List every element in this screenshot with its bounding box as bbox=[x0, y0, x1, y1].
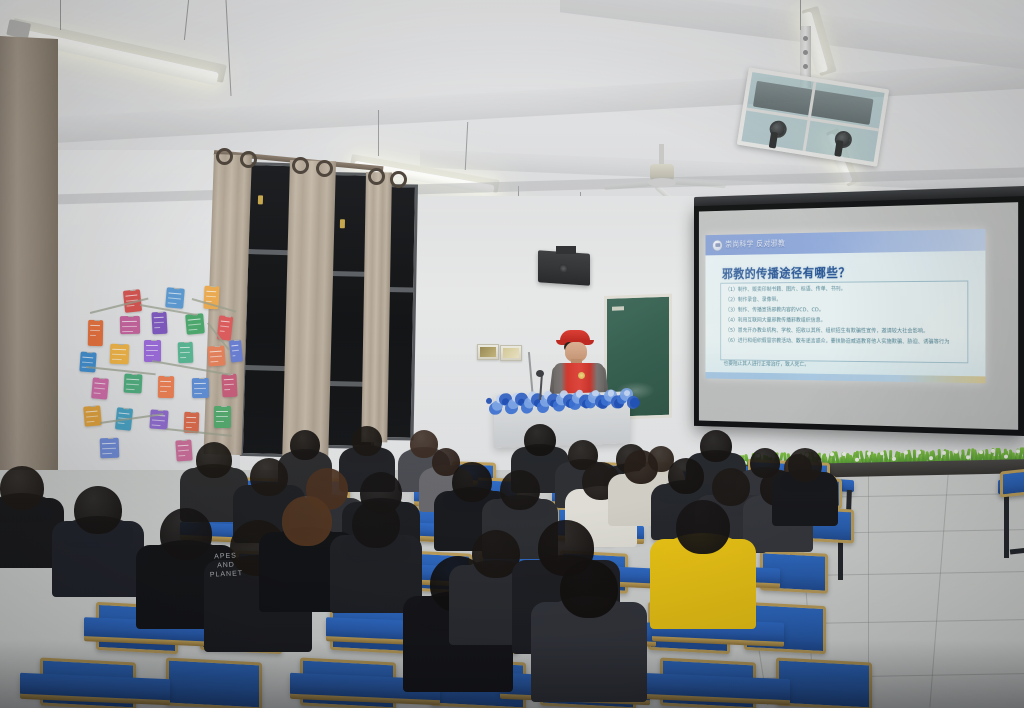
student-head bbox=[560, 560, 618, 618]
student-head bbox=[676, 500, 730, 554]
student-head bbox=[668, 458, 704, 494]
student-head bbox=[500, 470, 540, 510]
student-head bbox=[282, 496, 332, 546]
chair-back bbox=[776, 657, 872, 708]
student-head bbox=[624, 450, 658, 484]
classroom-photo: 崇尚科学 反对邪教 邪教的传播途径有哪些？ （1）制作、贩卖印制书籍、图片、标语… bbox=[0, 0, 1024, 708]
student-head bbox=[196, 442, 232, 478]
student-head bbox=[712, 468, 750, 506]
student-head bbox=[74, 486, 122, 534]
student-head bbox=[352, 426, 382, 456]
hoodie-graphic-text: APES AND PLANET bbox=[195, 550, 256, 580]
seating-area: APES AND PLANET bbox=[0, 0, 1024, 708]
student-head bbox=[524, 424, 556, 456]
student-head bbox=[700, 430, 732, 462]
desk-leg bbox=[1010, 547, 1024, 555]
desk bbox=[20, 673, 170, 702]
student-head bbox=[788, 448, 822, 482]
desk bbox=[640, 673, 790, 702]
chair-back bbox=[1000, 468, 1024, 497]
chair-back bbox=[166, 657, 262, 708]
student-head bbox=[352, 500, 400, 548]
student-head bbox=[0, 466, 44, 510]
student-head bbox=[250, 458, 288, 496]
student-head bbox=[290, 430, 320, 460]
student-head bbox=[452, 462, 492, 502]
desk-leg bbox=[1004, 492, 1009, 558]
